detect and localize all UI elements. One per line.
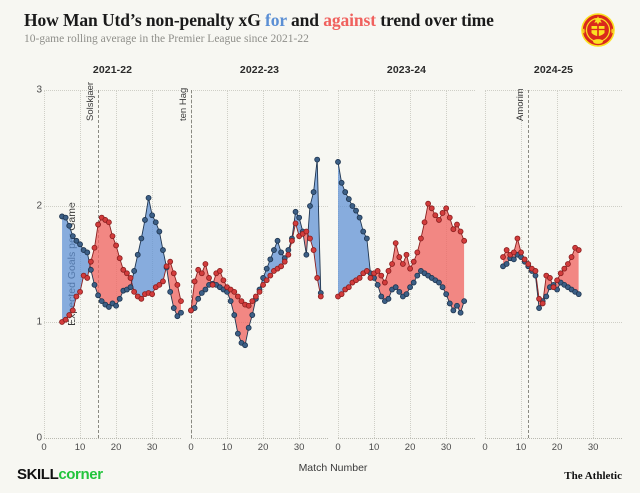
title-part-2: trend over time [376,10,494,30]
for-data-point [336,159,341,164]
x-tick-20: 20 [258,442,269,453]
skillcorner-logo: SKILLcorner [17,466,103,483]
against-data-point [164,264,169,269]
x-tick-10: 10 [75,442,86,453]
against-data-point [511,250,516,255]
facet-panel-2024-25: 2024-250102030Amorim [485,90,622,438]
against-data-point [526,262,531,267]
against-data-point [74,294,79,299]
against-data-point [246,303,251,308]
logo-corner-text: corner [58,466,102,483]
for-data-point [411,280,416,285]
for-data-point [576,292,581,297]
title-mid: and [287,10,323,30]
season-label: 2022-23 [191,64,328,76]
against-data-point [390,262,395,267]
for-data-point [171,306,176,311]
title-for-word: for [265,10,287,30]
against-data-point [207,275,212,280]
for-data-point [157,229,162,234]
against-data-point [110,234,115,239]
against-data-point [70,308,75,313]
for-data-point [364,236,369,241]
against-data-point [199,271,204,276]
for-data-point [354,208,359,213]
x-axis-label: Match Number [44,462,622,474]
for-data-point [404,292,409,297]
for-data-point [511,257,516,262]
against-data-point [210,282,215,287]
series-plot [44,90,181,438]
plot-area: Expected Goals per Game Match Number 202… [44,90,622,438]
facet-panel-2022-23: 2022-230102030ten Hag [191,90,328,438]
against-data-point [382,280,387,285]
x-tick-30: 30 [294,442,305,453]
for-data-point [139,236,144,241]
x-tick-30: 30 [147,442,158,453]
for-data-point [444,292,449,297]
against-data-point [454,222,459,227]
against-data-point [257,289,262,294]
for-data-point [92,282,97,287]
for-band-fill [191,160,321,346]
against-data-point [368,275,373,280]
for-data-point [232,313,237,318]
for-data-point [350,204,355,209]
y-tick-3: 3 [32,85,42,96]
against-data-point [555,278,560,283]
y-tick-1: 1 [32,317,42,328]
for-data-point [408,285,413,290]
against-data-point [433,213,438,218]
against-data-point [168,259,173,264]
for-data-point [293,209,298,214]
against-data-point [540,301,545,306]
against-data-point [96,222,101,227]
title-part-1: How Man Utd’s non-penalty xG [24,10,265,30]
for-data-point [142,217,147,222]
for-data-point [304,252,309,257]
against-data-point [304,229,309,234]
against-data-point [547,275,552,280]
against-data-point [311,248,316,253]
for-data-point [235,331,240,336]
against-data-point [179,299,184,304]
against-data-point [171,271,176,276]
against-band-fill [191,160,321,346]
for-data-point [268,257,273,262]
against-data-point [515,236,520,241]
series-plot [338,90,475,438]
against-data-point [63,317,68,322]
against-data-point [235,294,240,299]
against-data-point [565,262,570,267]
for-data-point [393,285,398,290]
for-data-point [339,180,344,185]
against-data-point [175,282,180,287]
for-data-point [397,289,402,294]
against-data-point [357,275,362,280]
x-tick-20: 20 [405,442,416,453]
against-data-point [440,210,445,215]
for-data-point [160,248,165,253]
for-data-point [311,190,316,195]
for-data-point [307,204,312,209]
for-data-point [361,229,366,234]
against-data-point [253,294,258,299]
for-data-point [179,310,184,315]
for-data-point [415,273,420,278]
against-data-point [558,271,563,276]
x-tick-20: 20 [111,442,122,453]
against-data-point [522,257,527,262]
for-data-point [96,293,101,298]
for-data-point [375,282,380,287]
against-data-point [261,282,266,287]
for-data-point [275,238,280,243]
against-data-point [139,296,144,301]
season-label: 2023-24 [338,64,475,76]
against-data-point [375,268,380,273]
against-data-point [264,278,269,283]
series-plot [191,90,328,438]
against-data-point [250,299,255,304]
page-title: How Man Utd’s non-penalty xG for and aga… [24,10,494,31]
against-data-point [318,294,323,299]
for-data-point [271,248,276,253]
for-data-point [379,294,384,299]
for-data-point [228,299,233,304]
for-data-point [63,215,68,220]
for-data-point [246,325,251,330]
against-data-point [88,259,93,264]
for-data-point [153,220,158,225]
against-data-point [67,313,72,318]
against-data-point [315,275,320,280]
against-data-point [569,255,574,260]
against-data-point [551,285,556,290]
against-data-point [217,268,222,273]
for-data-point [132,268,137,273]
for-data-point [85,250,90,255]
chart-root: How Man Utd’s non-penalty xG for and aga… [0,0,640,493]
against-data-point [132,289,137,294]
gridline-horizontal [338,438,475,439]
for-data-point [78,242,83,247]
for-line [191,160,321,346]
against-data-point [85,275,90,280]
y-tick-2: 2 [32,201,42,212]
against-data-point [379,273,384,278]
for-data-point [454,303,459,308]
logo-skill-text: SKILL [17,466,58,483]
for-data-point [343,190,348,195]
for-data-point [128,285,133,290]
for-data-point [544,294,549,299]
x-tick-10: 10 [222,442,233,453]
for-data-point [88,267,93,272]
against-data-point [293,221,298,226]
against-data-point [114,243,119,248]
x-tick-0: 0 [41,442,46,453]
against-data-point [404,252,409,257]
for-data-point [168,289,173,294]
against-data-point [386,268,391,273]
against-data-point [519,250,524,255]
x-tick-0: 0 [188,442,193,453]
against-data-point [393,241,398,246]
against-data-point [537,296,542,301]
for-data-point [117,296,122,301]
for-data-point [114,303,119,308]
for-data-point [451,308,456,313]
against-data-point [400,262,405,267]
series-plot [485,90,622,438]
gridline-horizontal [485,438,622,439]
against-data-point [415,250,420,255]
against-data-point [307,236,312,241]
against-data-point [562,266,567,271]
against-data-point [286,252,291,257]
against-data-point [268,273,273,278]
for-data-point [196,296,201,301]
against-data-point [221,278,226,283]
for-data-point [250,313,255,318]
for-data-point [386,296,391,301]
against-data-point [426,201,431,206]
against-data-point [279,264,284,269]
against-data-point [444,206,449,211]
for-data-point [357,215,362,220]
against-data-point [92,245,97,250]
against-data-point [124,271,129,276]
against-data-point [397,255,402,260]
against-data-point [150,292,155,297]
for-data-point [243,343,248,348]
season-label: 2024-25 [485,64,622,76]
against-data-point [117,256,122,261]
for-data-point [70,234,75,239]
against-data-point [411,259,416,264]
x-tick-10: 10 [516,442,527,453]
for-data-point [279,250,284,255]
against-data-point [128,275,133,280]
the-athletic-credit: The Athletic [564,470,622,482]
for-data-point [346,197,351,202]
against-data-point [339,292,344,297]
against-data-point [408,266,413,271]
facet-panels: 2021-2201230102030Solskjaer2022-23010203… [44,90,622,438]
against-data-point [533,268,538,273]
x-tick-10: 10 [369,442,380,453]
for-data-point [146,195,151,200]
against-data-point [447,215,452,220]
for-data-point [440,285,445,290]
against-data-point [504,248,509,253]
against-data-point [576,248,581,253]
against-data-point [418,236,423,241]
against-data-point [106,220,111,225]
against-data-point [462,238,467,243]
against-data-point [282,259,287,264]
manager-label-ten-hag: ten Hag [178,88,189,121]
page-subtitle: 10-game rolling average in the Premier L… [24,33,309,45]
against-data-point [501,255,506,260]
gridline-horizontal [191,438,328,439]
man-utd-crest-icon [578,10,618,50]
for-data-point [447,301,452,306]
for-data-point [462,299,467,304]
against-data-point [436,217,441,222]
title-against-word: against [323,10,376,30]
for-data-point [264,266,269,271]
for-data-point [315,157,320,162]
for-data-point [537,306,542,311]
facet-panel-2023-24: 2023-240102030 [338,90,475,438]
x-tick-20: 20 [552,442,563,453]
against-data-point [192,279,197,284]
for-data-point [436,280,441,285]
x-tick-0: 0 [335,442,340,453]
against-data-point [232,289,237,294]
for-data-point [297,215,302,220]
against-data-point [203,262,208,267]
for-data-point [150,213,155,218]
facet-panel-2021-22: 2021-2201230102030Solskjaer [44,90,181,438]
gridline-horizontal [44,438,181,439]
x-tick-30: 30 [588,442,599,453]
for-data-point [203,287,208,292]
against-data-point [364,268,369,273]
for-data-point [458,310,463,315]
for-data-point [135,252,140,257]
against-data-point [160,279,165,284]
for-data-point [504,262,509,267]
against-data-point [346,285,351,290]
x-tick-30: 30 [441,442,452,453]
for-data-point [67,223,72,228]
x-tick-0: 0 [482,442,487,453]
against-data-point [78,289,83,294]
against-data-point [289,238,294,243]
against-data-point [422,220,427,225]
season-label: 2021-22 [44,64,181,76]
against-data-point [429,206,434,211]
against-data-point [189,308,194,313]
against-data-point [451,227,456,232]
against-data-point [458,229,463,234]
